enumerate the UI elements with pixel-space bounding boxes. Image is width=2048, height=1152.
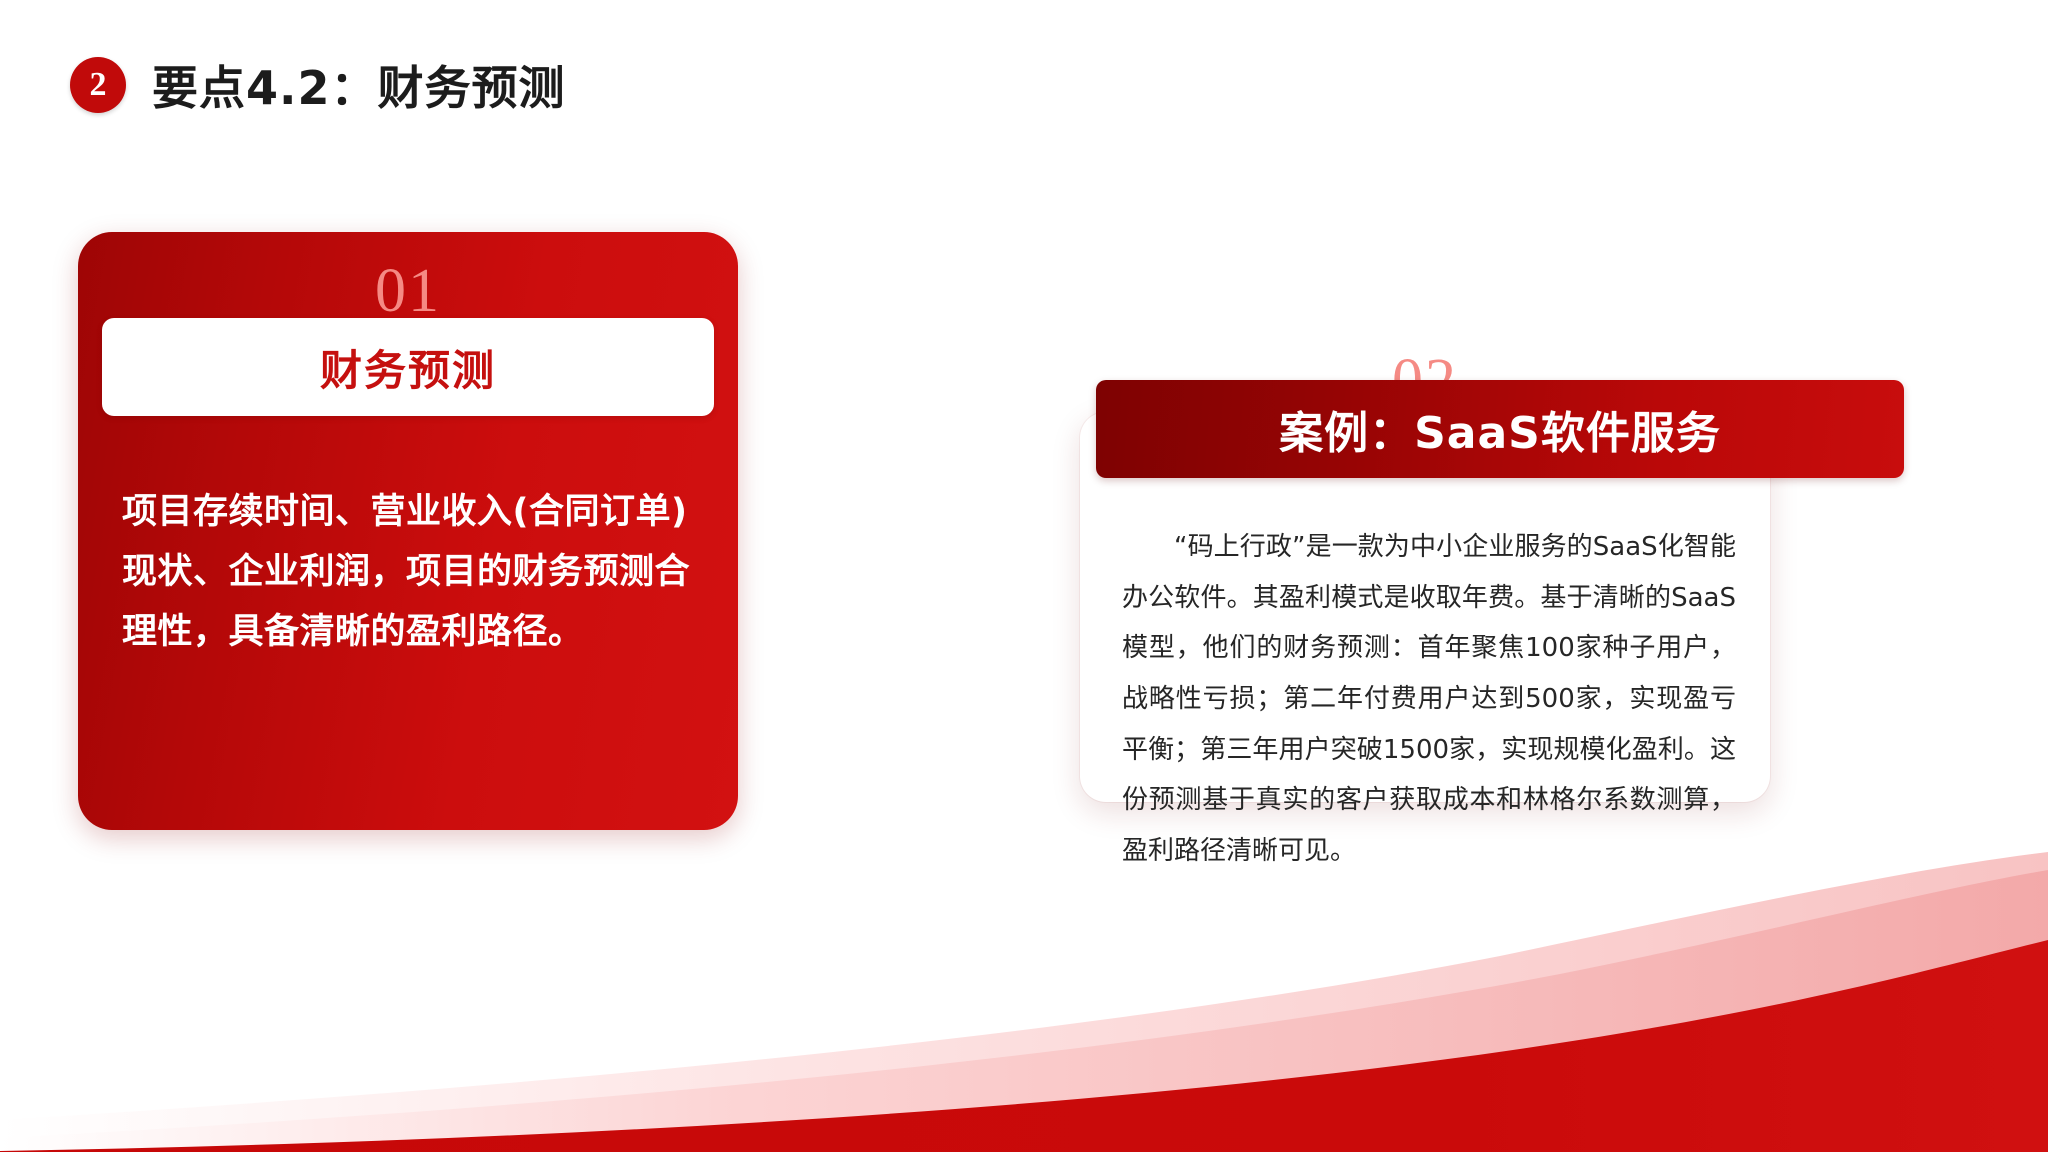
slide-canvas: 2 要点4.2：财务预测 01 财务预测 项目存续时间、营业收入(合同订单)现状… <box>0 0 2048 1152</box>
bottom-wave-decoration <box>0 852 2048 1152</box>
right-card-body-text: “码上行政”是一款为中小企业服务的SaaS化智能办公软件。其盈利模式是收取年费。… <box>1122 522 1736 877</box>
left-card-banner-title: 财务预测 <box>320 337 496 398</box>
page-title: 要点4.2：财务预测 <box>152 52 566 118</box>
wave-tertiary <box>0 852 2048 1152</box>
wave-primary <box>0 940 2048 1152</box>
card-saas-case: 02 案例：SaaS软件服务 “码上行政”是一款为中小企业服务的SaaS化智能办… <box>1080 412 1770 802</box>
left-card-ghost-number: 01 <box>375 260 441 322</box>
wave-secondary <box>0 870 2048 1152</box>
slide-header: 2 要点4.2：财务预测 <box>70 52 566 118</box>
card-financial-forecast: 01 财务预测 项目存续时间、营业收入(合同订单)现状、企业利润，项目的财务预测… <box>78 232 738 830</box>
right-card-banner: 案例：SaaS软件服务 <box>1096 380 1904 478</box>
section-number-badge: 2 <box>70 57 126 113</box>
left-card-banner: 财务预测 <box>102 318 714 416</box>
right-card-banner-title: 案例：SaaS软件服务 <box>1279 397 1721 461</box>
left-card-body-text: 项目存续时间、营业收入(合同订单)现状、企业利润，项目的财务预测合理性，具备清晰… <box>122 482 700 663</box>
section-number-text: 2 <box>90 68 107 102</box>
